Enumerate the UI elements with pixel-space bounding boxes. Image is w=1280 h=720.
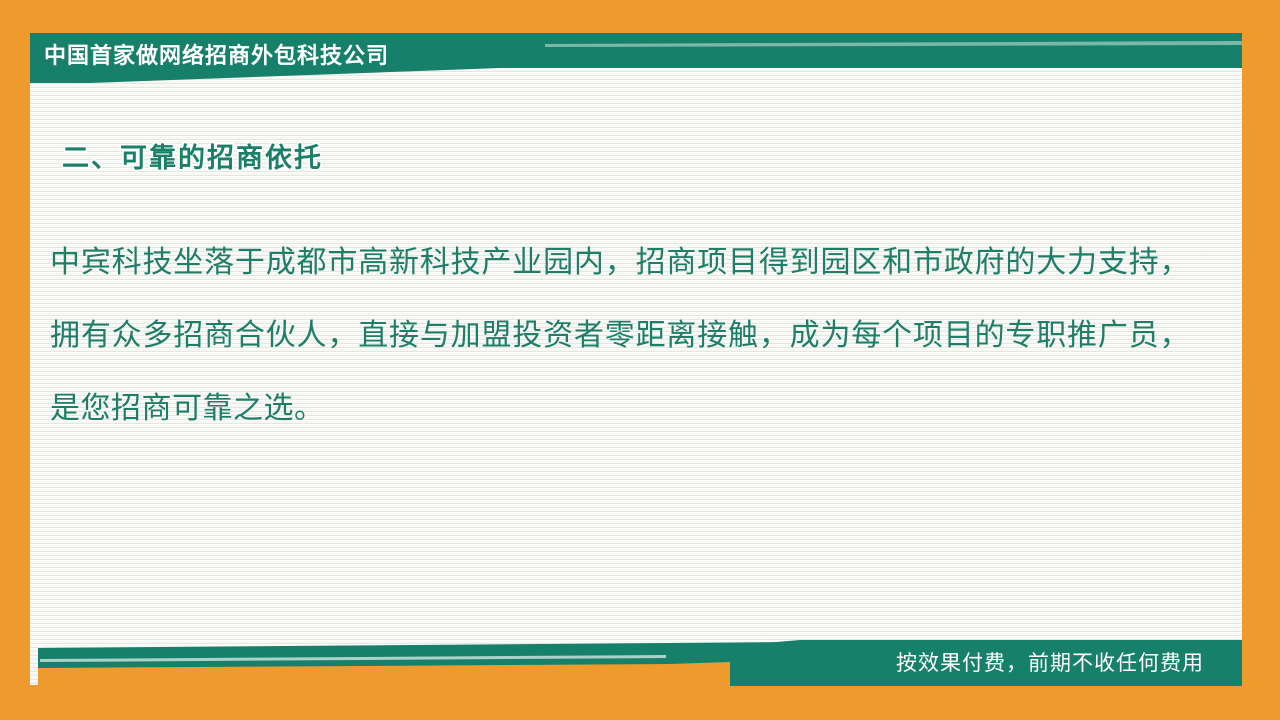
section-heading: 二、可靠的招商依托 [62,136,323,175]
slide-canvas: 中国首家做网络招商外包科技公司 二、可靠的招商依托 中宾科技坐落于成都市高新科技… [0,0,1280,720]
body-paragraph: 中宾科技坐落于成都市高新科技产业园内，招商项目得到园区和市政府的大力支持，拥有众… [50,226,1190,445]
